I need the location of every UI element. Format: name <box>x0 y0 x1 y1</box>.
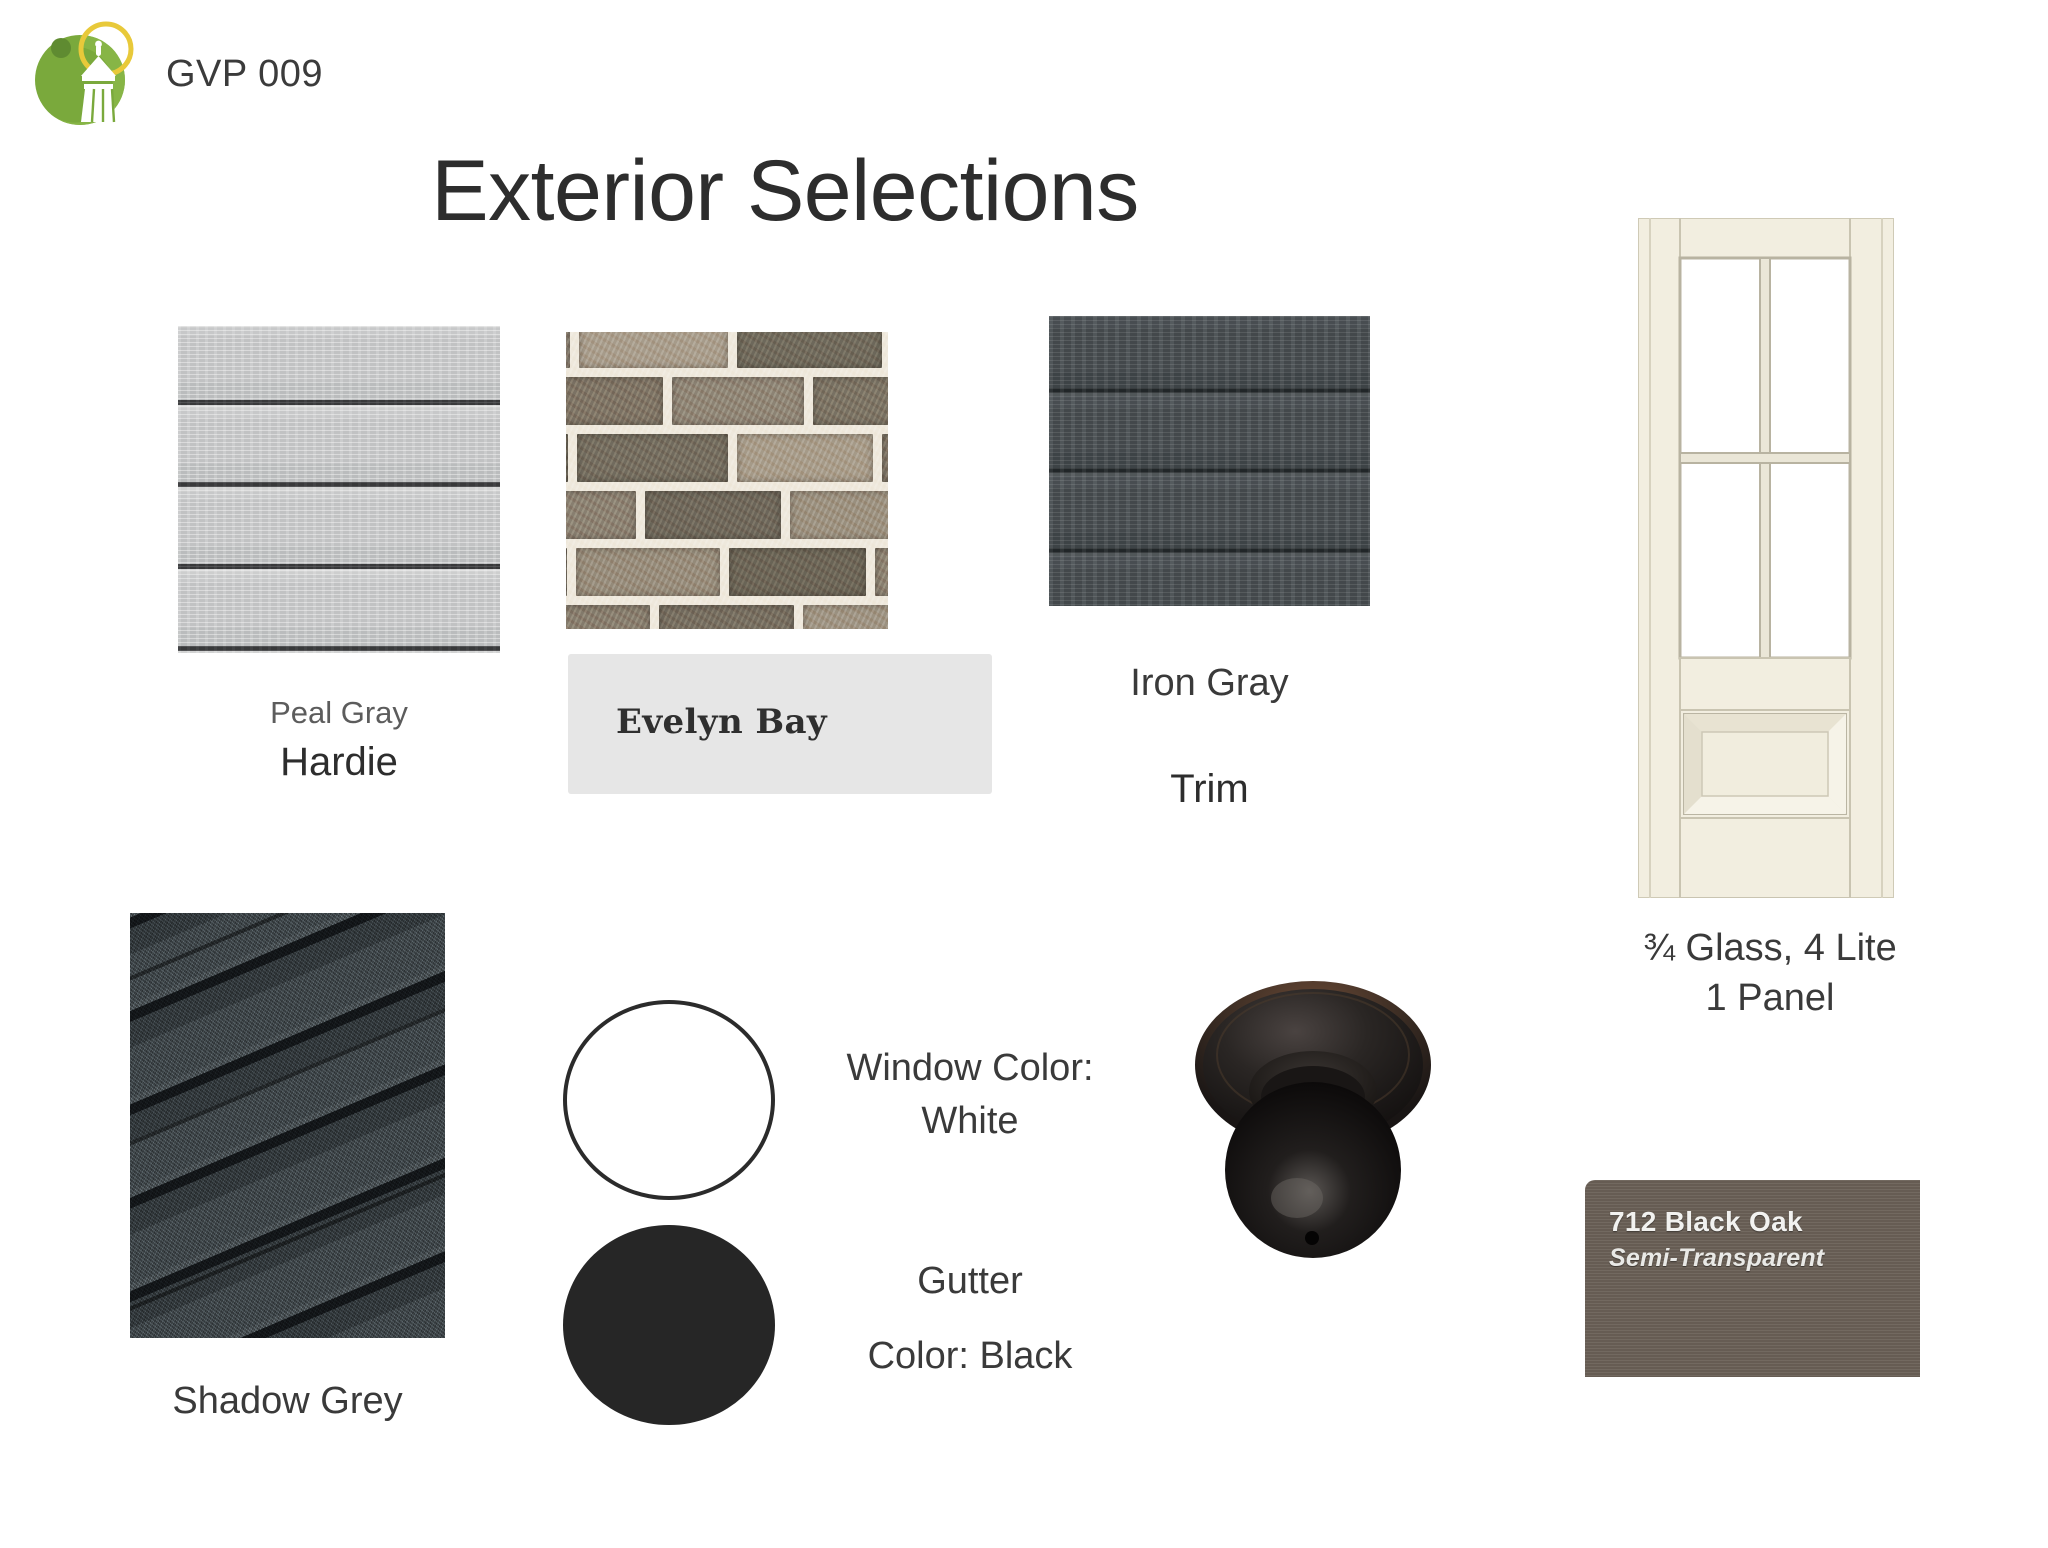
brick-row <box>566 548 888 596</box>
roof-shingle-swatch <box>130 913 445 1338</box>
hardie-siding-swatch <box>178 326 500 653</box>
door-knob-icon <box>1180 955 1450 1265</box>
entry-door-icon <box>1638 218 1894 898</box>
brick-color-plate: Evelyn Bay <box>568 654 992 794</box>
siding-grain-texture <box>178 326 500 653</box>
brand-header: GVP 009 <box>28 14 448 134</box>
roof-color-label: Shadow Grey <box>130 1378 445 1424</box>
door-caption-line1: ¾ Glass, 4 Lite <box>1600 925 1940 971</box>
trim-siding-swatch <box>1049 316 1370 606</box>
brick-row <box>566 605 888 629</box>
gutter-color-label-line1: Gutter <box>800 1258 1140 1304</box>
shingle-seam-lines <box>130 913 445 1338</box>
stain-subtitle-label: Semi-Transparent <box>1609 1244 1824 1273</box>
trim-category-label: Trim <box>1049 765 1370 814</box>
window-color-label-line1: Window Color: <box>800 1045 1140 1091</box>
project-code-label: GVP 009 <box>166 53 323 96</box>
window-color-label-line2: White <box>800 1098 1140 1144</box>
brick-swatch <box>566 332 888 629</box>
lantern-logo-icon <box>28 18 146 130</box>
page-title: Exterior Selections <box>0 146 1570 236</box>
trim-color-label: Iron Gray <box>1049 660 1370 706</box>
hardie-color-label: Peal Gray <box>178 694 500 732</box>
brick-row <box>566 491 888 539</box>
gutter-color-circle <box>563 1225 775 1425</box>
brick-color-label: Evelyn Bay <box>616 702 827 742</box>
gutter-color-label-line2: Color: Black <box>800 1333 1140 1379</box>
brick-row <box>566 434 888 482</box>
stain-name-label: 712 Black Oak <box>1609 1206 1803 1238</box>
stain-swatch: 712 Black Oak Semi-Transparent <box>1585 1180 1920 1377</box>
brick-row <box>566 332 888 368</box>
brick-row <box>566 377 888 425</box>
window-color-circle <box>563 1000 775 1200</box>
door-caption-line2: 1 Panel <box>1600 975 1940 1021</box>
siding-grain-texture <box>1049 316 1370 606</box>
hardie-category-label: Hardie <box>178 738 500 787</box>
